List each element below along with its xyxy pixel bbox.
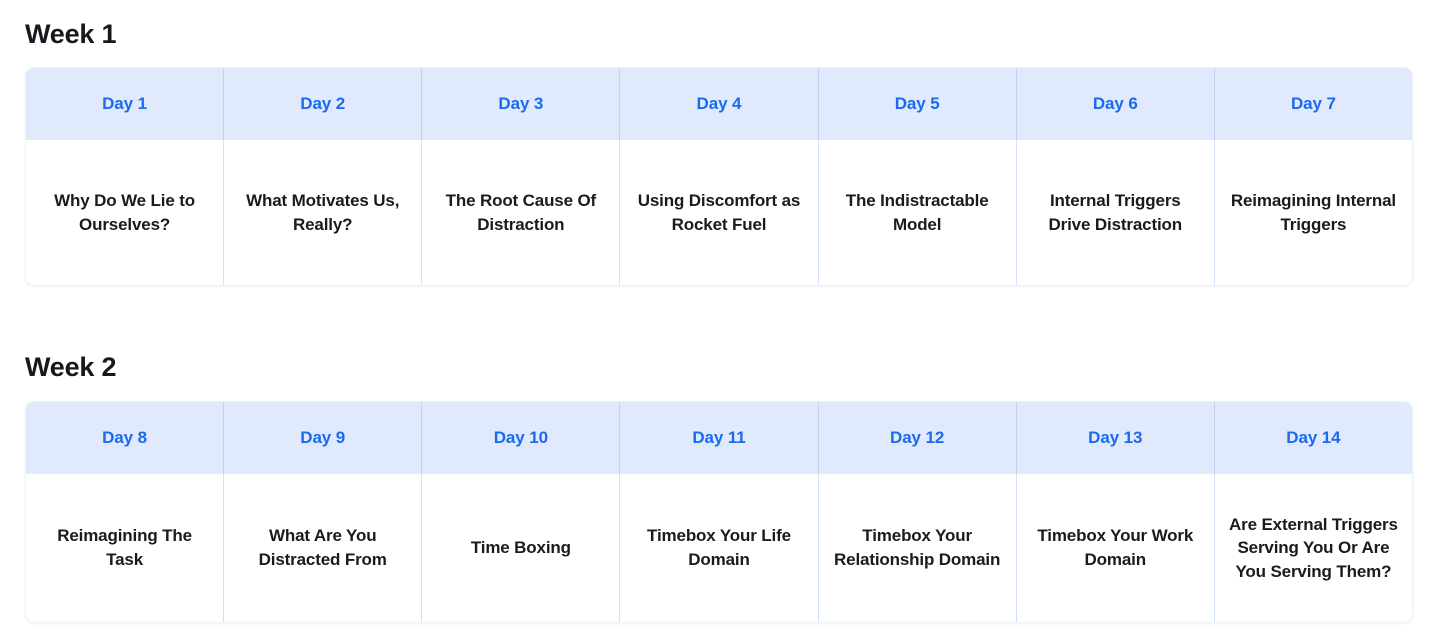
week-1-topic-row: Why Do We Lie to Ourselves? What Motivat… xyxy=(26,140,1412,285)
day-header-day-6[interactable]: Day 6 xyxy=(1016,68,1214,140)
day-header-day-10[interactable]: Day 10 xyxy=(421,402,619,474)
day-header-day-9[interactable]: Day 9 xyxy=(223,402,421,474)
day-topic-day-3[interactable]: The Root Cause Of Distraction xyxy=(421,140,619,285)
day-topic-day-11[interactable]: Timebox Your Life Domain xyxy=(619,474,817,622)
day-header-day-13[interactable]: Day 13 xyxy=(1016,402,1214,474)
schedule-page: Week 1 Day 1 Day 2 Day 3 Day 4 Day 5 Day… xyxy=(0,0,1438,643)
week-2-schedule-table: Day 8 Day 9 Day 10 Day 11 Day 12 Day 13 … xyxy=(25,401,1413,623)
week-2-day-header-row: Day 8 Day 9 Day 10 Day 11 Day 12 Day 13 … xyxy=(26,402,1412,474)
week-2-heading: Week 2 xyxy=(25,286,1413,400)
day-topic-day-9[interactable]: What Are You Distracted From xyxy=(223,474,421,622)
day-topic-text: Reimagining Internal Triggers xyxy=(1227,189,1400,236)
day-topic-text: Timebox Your Relationship Domain xyxy=(831,524,1004,571)
day-topic-day-4[interactable]: Using Discomfort as Rocket Fuel xyxy=(619,140,817,285)
day-topic-day-6[interactable]: Internal Triggers Drive Distraction xyxy=(1016,140,1214,285)
day-header-day-3[interactable]: Day 3 xyxy=(421,68,619,140)
day-topic-text: Why Do We Lie to Ourselves? xyxy=(38,189,211,236)
day-topic-text: What Are You Distracted From xyxy=(236,524,409,571)
day-header-day-5[interactable]: Day 5 xyxy=(818,68,1016,140)
day-header-day-14[interactable]: Day 14 xyxy=(1214,402,1412,474)
day-topic-day-8[interactable]: Reimagining The Task xyxy=(26,474,223,622)
day-topic-text: Timebox Your Life Domain xyxy=(632,524,805,571)
day-topic-text: The Root Cause Of Distraction xyxy=(434,189,607,236)
day-topic-day-14[interactable]: Are External Triggers Serving You Or Are… xyxy=(1214,474,1412,622)
day-topic-text: Using Discomfort as Rocket Fuel xyxy=(632,189,805,236)
day-topic-day-7[interactable]: Reimagining Internal Triggers xyxy=(1214,140,1412,285)
day-topic-day-5[interactable]: The Indistractable Model xyxy=(818,140,1016,285)
day-header-day-12[interactable]: Day 12 xyxy=(818,402,1016,474)
day-topic-day-1[interactable]: Why Do We Lie to Ourselves? xyxy=(26,140,223,285)
day-topic-day-12[interactable]: Timebox Your Relationship Domain xyxy=(818,474,1016,622)
day-topic-day-10[interactable]: Time Boxing xyxy=(421,474,619,622)
day-header-day-4[interactable]: Day 4 xyxy=(619,68,817,140)
day-topic-text: The Indistractable Model xyxy=(831,189,1004,236)
day-topic-day-2[interactable]: What Motivates Us, Really? xyxy=(223,140,421,285)
day-topic-text: Internal Triggers Drive Distraction xyxy=(1029,189,1202,236)
day-topic-day-13[interactable]: Timebox Your Work Domain xyxy=(1016,474,1214,622)
day-header-day-2[interactable]: Day 2 xyxy=(223,68,421,140)
day-topic-text: Reimagining The Task xyxy=(38,524,211,571)
week-block-1: Week 1 Day 1 Day 2 Day 3 Day 4 Day 5 Day… xyxy=(25,0,1413,286)
week-1-day-header-row: Day 1 Day 2 Day 3 Day 4 Day 5 Day 6 Day … xyxy=(26,68,1412,140)
day-topic-text: What Motivates Us, Really? xyxy=(236,189,409,236)
week-2-topic-row: Reimagining The Task What Are You Distra… xyxy=(26,474,1412,622)
day-header-day-11[interactable]: Day 11 xyxy=(619,402,817,474)
day-topic-text: Are External Triggers Serving You Or Are… xyxy=(1227,513,1400,583)
week-1-heading: Week 1 xyxy=(25,0,1413,67)
day-header-day-8[interactable]: Day 8 xyxy=(26,402,223,474)
week-1-schedule-table: Day 1 Day 2 Day 3 Day 4 Day 5 Day 6 Day … xyxy=(25,67,1413,286)
week-block-2: Week 2 Day 8 Day 9 Day 10 Day 11 Day 12 … xyxy=(25,286,1413,622)
day-header-day-1[interactable]: Day 1 xyxy=(26,68,223,140)
day-topic-text: Timebox Your Work Domain xyxy=(1029,524,1202,571)
day-topic-text: Time Boxing xyxy=(471,536,571,559)
day-header-day-7[interactable]: Day 7 xyxy=(1214,68,1412,140)
